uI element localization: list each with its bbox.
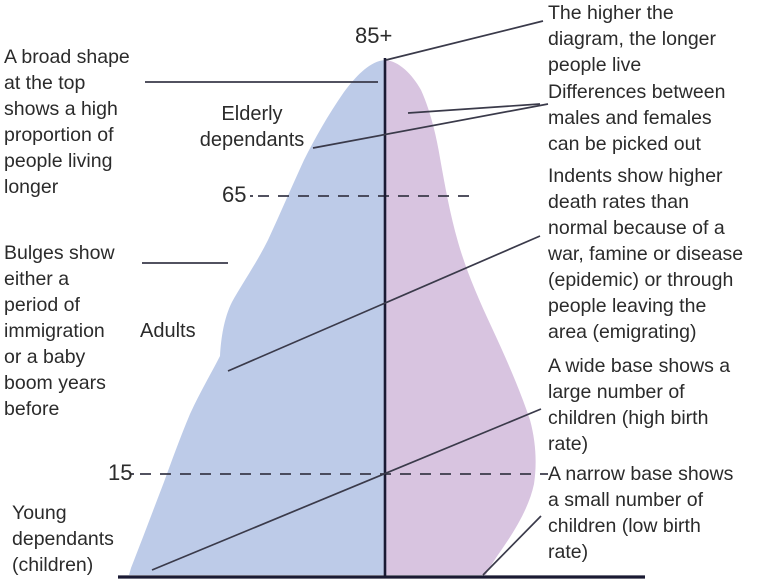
region-label-elderly-dependants: Elderly dependants xyxy=(178,101,326,153)
annotation-young-dependants: Young dependants (children) xyxy=(12,500,162,578)
annotation-narrow-base: A narrow base shows a small number of ch… xyxy=(548,461,760,565)
annotation-indents-death-rates: Indents show higher death rates than nor… xyxy=(548,163,760,345)
annotation-bulges: Bulges show either a period of immigrati… xyxy=(4,240,144,422)
axis-label-65: 65 xyxy=(222,183,246,207)
population-pyramid-diagram: 85+ 65 15 Elderly dependants Adults A br… xyxy=(0,0,760,584)
axis-label-85-plus: 85+ xyxy=(355,24,392,48)
annotation-broad-shape: A broad shape at the top shows a high pr… xyxy=(4,44,154,200)
region-label-adults: Adults xyxy=(140,318,250,344)
annotation-higher-diagram: The higher the diagram, the longer peopl… xyxy=(548,0,758,78)
female-population-area xyxy=(385,60,536,575)
annotation-wide-base: A wide base shows a large number of chil… xyxy=(548,353,760,457)
axis-label-15: 15 xyxy=(108,461,132,485)
leader-line-higher-diagram xyxy=(386,21,543,60)
annotation-differences-males-females: Differences between males and females ca… xyxy=(548,79,760,157)
